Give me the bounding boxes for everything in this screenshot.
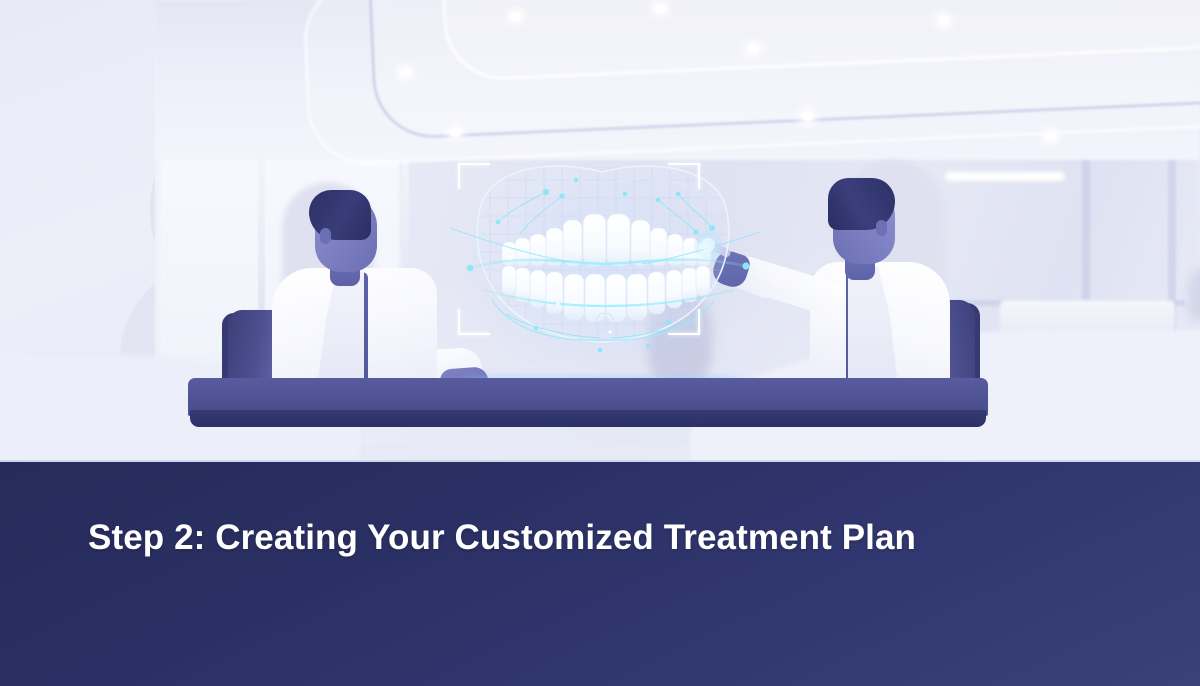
ceiling-downlight-icon — [1045, 132, 1056, 141]
ceiling-downlight-icon — [938, 16, 949, 25]
ceiling-downlight-icon — [510, 12, 521, 21]
holographic-teeth-scan — [450, 150, 760, 365]
ceiling — [155, 0, 1200, 160]
slide-image: Step 2: Creating Your Customized Treatme… — [0, 0, 1200, 686]
dentist-ear — [876, 220, 887, 236]
caption-title: Step 2: Creating Your Customized Treatme… — [88, 518, 916, 558]
ceiling-downlight-icon — [655, 4, 666, 13]
patient-ear — [320, 228, 331, 244]
ceiling-downlight-icon — [400, 68, 411, 77]
desk-edge — [190, 410, 986, 427]
ceiling-downlight-icon — [748, 44, 759, 53]
ceiling-downlight-icon — [802, 112, 813, 121]
strip-light — [945, 172, 1065, 181]
caption-bar: Step 2: Creating Your Customized Treatme… — [0, 462, 1200, 686]
scene-illustration — [0, 0, 1200, 462]
teeth-scan-graphic — [450, 150, 760, 365]
patient-hair — [309, 190, 371, 240]
ceiling-downlight-icon — [450, 128, 461, 137]
